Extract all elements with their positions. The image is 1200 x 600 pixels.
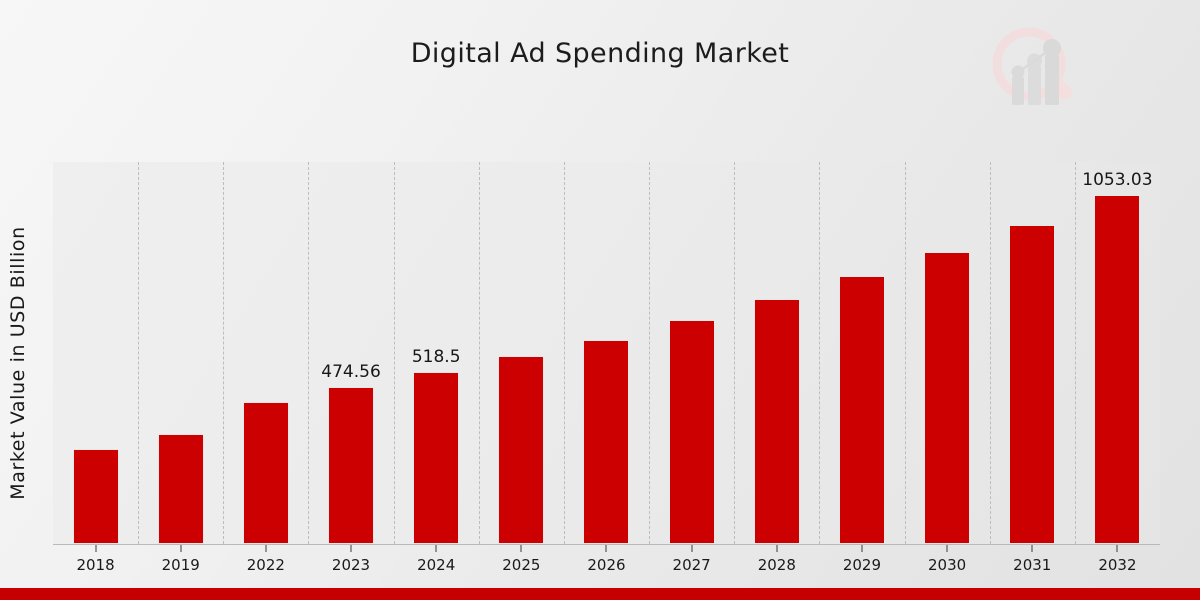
plot-area: 201820192022474.562023518.52024202520262… <box>53 162 1160 545</box>
x-axis-tick-label: 2029 <box>843 556 881 574</box>
bar-value-label: 1053.03 <box>1082 170 1152 190</box>
bar[interactable] <box>583 340 629 544</box>
x-axis-tick <box>606 545 607 552</box>
x-axis-tick-label: 2023 <box>332 556 370 574</box>
y-axis-title: Market Value in USD Billion <box>7 163 29 563</box>
x-axis-tick <box>436 545 437 552</box>
chart-canvas: Digital Ad Spending Market Market Value … <box>0 0 1200 600</box>
x-axis-tick <box>776 545 777 552</box>
x-axis-tick <box>691 545 692 552</box>
x-axis-tick-label: 2028 <box>758 556 796 574</box>
x-axis-tick <box>351 545 352 552</box>
x-axis-tick <box>521 545 522 552</box>
bar-group[interactable]: 474.562023 <box>308 162 393 544</box>
chart-title: Digital Ad Spending Market <box>0 38 1200 69</box>
bar-group[interactable]: 2030 <box>905 162 990 544</box>
bar[interactable] <box>839 276 885 544</box>
bar[interactable] <box>924 252 970 544</box>
x-axis-tick-label: 2030 <box>928 556 966 574</box>
bar-group[interactable]: 1053.032032 <box>1075 162 1160 544</box>
x-axis-tick-label: 2025 <box>502 556 540 574</box>
x-axis-tick-label: 2027 <box>673 556 711 574</box>
bar-group[interactable]: 518.52024 <box>394 162 479 544</box>
bar-value-label: 474.56 <box>321 362 380 382</box>
bar-group[interactable]: 2027 <box>649 162 734 544</box>
x-axis-tick <box>1032 545 1033 552</box>
bar-group[interactable]: 2019 <box>138 162 223 544</box>
bar[interactable] <box>158 434 204 544</box>
bar[interactable] <box>1094 195 1140 544</box>
bar[interactable] <box>328 387 374 544</box>
bar[interactable] <box>413 372 459 544</box>
x-axis-tick <box>265 545 266 552</box>
x-axis-tick-label: 2018 <box>76 556 114 574</box>
bar-group[interactable]: 2025 <box>479 162 564 544</box>
bar-group[interactable]: 2018 <box>53 162 138 544</box>
x-axis-tick <box>947 545 948 552</box>
bar-group[interactable]: 2026 <box>564 162 649 544</box>
footer-accent-bar <box>0 588 1200 600</box>
x-axis-tick <box>95 545 96 552</box>
bar[interactable] <box>498 356 544 544</box>
x-axis-tick-label: 2019 <box>162 556 200 574</box>
bar[interactable] <box>669 320 715 544</box>
x-axis-tick-label: 2031 <box>1013 556 1051 574</box>
bar-group[interactable]: 2031 <box>990 162 1075 544</box>
bar[interactable] <box>243 402 289 544</box>
x-axis-tick <box>1117 545 1118 552</box>
bar-value-label: 518.5 <box>412 347 461 367</box>
bar-group[interactable]: 2029 <box>819 162 904 544</box>
x-axis-tick <box>861 545 862 552</box>
x-axis-tick-label: 2026 <box>587 556 625 574</box>
bar[interactable] <box>754 299 800 544</box>
bar-group[interactable]: 2028 <box>734 162 819 544</box>
bar[interactable] <box>73 449 119 544</box>
x-axis-tick <box>180 545 181 552</box>
bar-series: 201820192022474.562023518.52024202520262… <box>53 162 1160 544</box>
x-axis-tick-label: 2032 <box>1098 556 1136 574</box>
x-axis-tick-label: 2024 <box>417 556 455 574</box>
bar-group[interactable]: 2022 <box>223 162 308 544</box>
bar[interactable] <box>1009 225 1055 544</box>
x-axis-tick-label: 2022 <box>247 556 285 574</box>
